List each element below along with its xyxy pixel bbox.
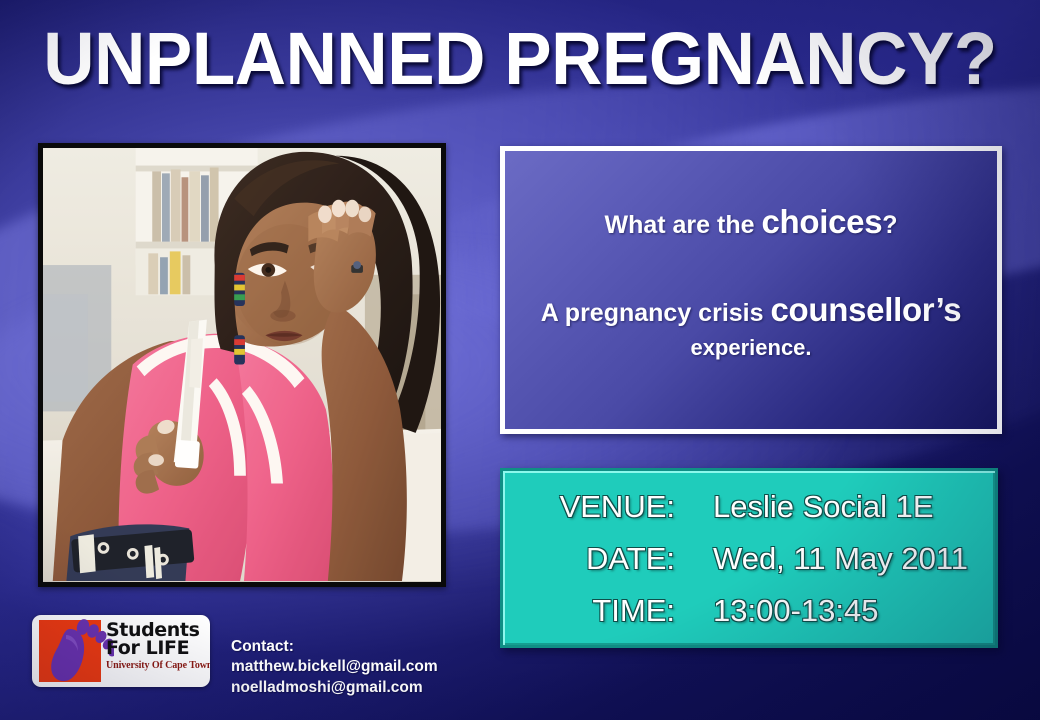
footprint-icon bbox=[36, 615, 114, 687]
choices-emphasis: choices bbox=[761, 203, 882, 240]
event-details-box: VENUE: Leslie Social 1E DATE: Wed, 11 Ma… bbox=[500, 468, 998, 648]
event-detail-row-date: DATE: Wed, 11 May 2011 bbox=[503, 537, 995, 581]
time-value: 13:00-13:45 bbox=[681, 589, 878, 633]
choices-question: What are the choices? bbox=[505, 201, 997, 243]
students-for-life-logo: Students For LIFE University Of Cape Tow… bbox=[32, 615, 210, 687]
venue-value: Leslie Social 1E bbox=[681, 485, 934, 529]
page-title: UNPLANNED PREGNANCY? bbox=[21, 20, 1019, 98]
contact-email-2[interactable]: noelladmoshi@gmail.com bbox=[231, 678, 438, 698]
date-label: DATE: bbox=[503, 537, 681, 581]
logo-word-for-life: For LIFE bbox=[106, 639, 208, 657]
event-detail-row-time: TIME: 13:00-13:45 bbox=[503, 589, 995, 633]
photo-frame bbox=[38, 143, 446, 587]
choices-question-suffix: ? bbox=[882, 211, 897, 239]
contact-block: Contact: matthew.bickell@gmail.com noell… bbox=[231, 637, 438, 698]
time-label: TIME: bbox=[503, 589, 681, 633]
choices-info-box: What are the choices? A pregnancy crisis… bbox=[500, 146, 1002, 434]
date-value: Wed, 11 May 2011 bbox=[681, 537, 968, 581]
counsellor-suffix: experience. bbox=[690, 335, 811, 360]
choices-question-prefix: What are the bbox=[604, 211, 761, 239]
counsellor-subtitle: A pregnancy crisis counsellor’s experien… bbox=[505, 289, 997, 363]
contact-email-1[interactable]: matthew.bickell@gmail.com bbox=[231, 657, 438, 677]
poster-canvas: UNPLANNED PREGNANCY? bbox=[0, 0, 1040, 720]
contact-heading: Contact: bbox=[231, 637, 438, 657]
photo-image bbox=[43, 148, 441, 581]
counsellor-prefix: A pregnancy crisis bbox=[541, 299, 771, 327]
logo-subtitle: University Of Cape Town bbox=[106, 660, 208, 671]
counsellor-emphasis: counsellor’s bbox=[770, 291, 961, 328]
event-detail-row-venue: VENUE: Leslie Social 1E bbox=[503, 485, 995, 529]
venue-label: VENUE: bbox=[503, 485, 681, 529]
